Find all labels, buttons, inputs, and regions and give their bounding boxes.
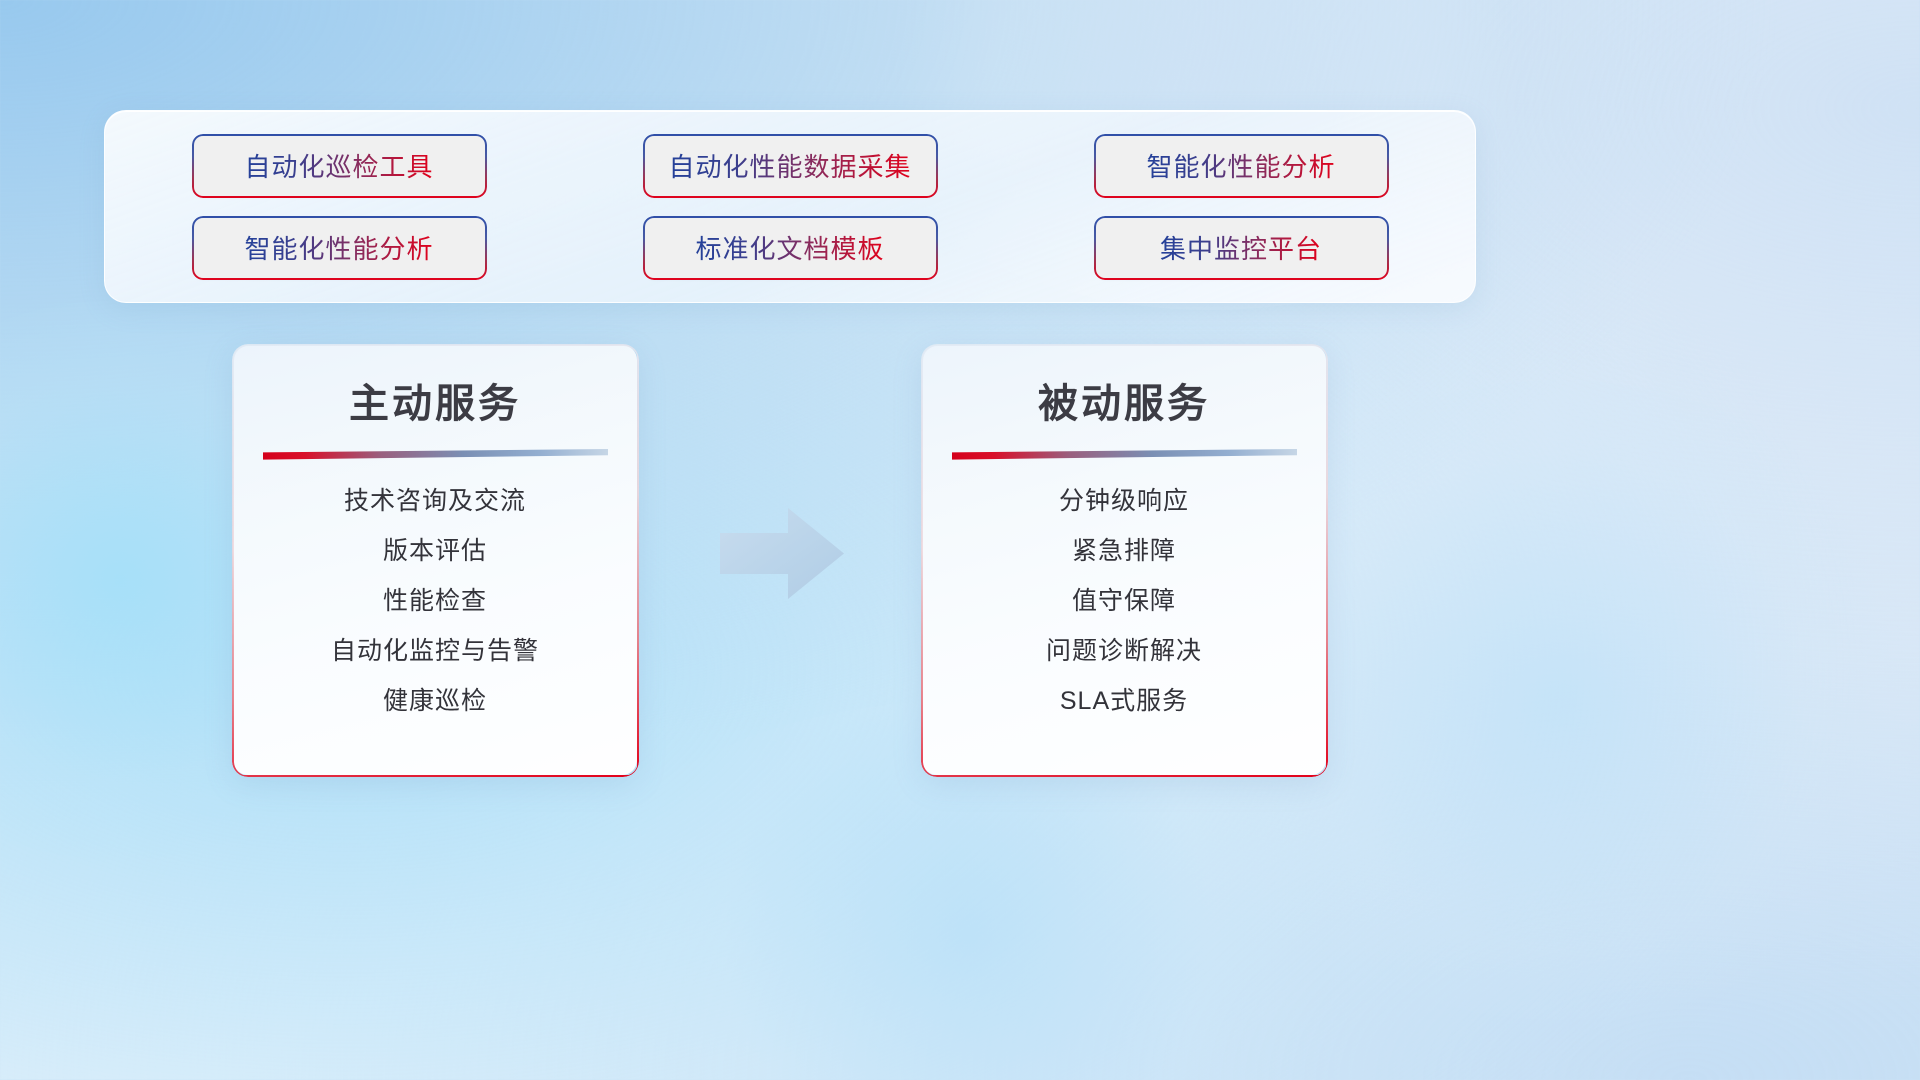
list-item[interactable]: 版本评估 — [383, 536, 487, 566]
capability-pill-label: 标准化文档模板 — [695, 229, 884, 266]
list-item[interactable]: 自动化监控与告警 — [331, 636, 539, 666]
service-list-proactive: 技术咨询及交流 版本评估 性能检查 自动化监控与告警 健康巡检 — [233, 486, 637, 716]
capability-pill-centralized-monitoring-platform[interactable]: 集中监控平台 — [1096, 218, 1387, 278]
capability-pill-label: 集中监控平台 — [1160, 229, 1322, 266]
card-title: 主动服务 — [233, 371, 637, 429]
capability-pill-intelligent-performance-analysis[interactable]: 智能化性能分析 — [1096, 136, 1387, 196]
capability-pill-standardized-document-template[interactable]: 标准化文档模板 — [645, 218, 936, 278]
capability-pill-label: 自动化巡检工具 — [244, 147, 433, 184]
capability-row-2: 智能化性能分析 标准化文档模板 集中监控平台 — [194, 218, 1387, 278]
list-item[interactable]: 健康巡检 — [383, 686, 487, 716]
capability-pill-label: 智能化性能分析 — [244, 229, 433, 266]
service-list-reactive: 分钟级响应 紧急排障 值守保障 问题诊断解决 SLA式服务 — [922, 486, 1326, 716]
service-card-proactive[interactable]: 主动服务 技术咨询及交流 版本评估 性能检查 自动化监控与告警 健康巡检 — [233, 345, 637, 775]
list-item[interactable]: 技术咨询及交流 — [344, 486, 526, 516]
capability-row-1: 自动化巡检工具 自动化性能数据采集 智能化性能分析 — [194, 136, 1387, 196]
list-item[interactable]: 问题诊断解决 — [1046, 636, 1202, 666]
list-item[interactable]: 值守保障 — [1072, 586, 1176, 616]
card-title: 被动服务 — [922, 371, 1326, 429]
capability-pill-automated-inspection-tool[interactable]: 自动化巡检工具 — [194, 136, 485, 196]
service-card-reactive[interactable]: 被动服务 分钟级响应 紧急排障 值守保障 问题诊断解决 SLA式服务 — [922, 345, 1326, 775]
card-divider-accent — [263, 449, 608, 460]
list-item[interactable]: 紧急排障 — [1072, 536, 1176, 566]
list-item[interactable]: SLA式服务 — [1060, 686, 1188, 716]
list-item[interactable]: 性能检查 — [383, 586, 487, 616]
capability-pill-intelligent-performance-analysis-2[interactable]: 智能化性能分析 — [194, 218, 485, 278]
card-divider-accent — [952, 449, 1297, 460]
capability-pill-automated-performance-data-collection[interactable]: 自动化性能数据采集 — [645, 136, 936, 196]
capability-pill-label: 自动化性能数据采集 — [668, 147, 911, 184]
arrow-right-icon — [716, 503, 848, 604]
capability-pill-label: 智能化性能分析 — [1146, 147, 1335, 184]
list-item[interactable]: 分钟级响应 — [1059, 486, 1189, 516]
capability-panel: 自动化巡检工具 自动化性能数据采集 智能化性能分析 智能化性能分析 标准化文档模… — [104, 110, 1476, 303]
